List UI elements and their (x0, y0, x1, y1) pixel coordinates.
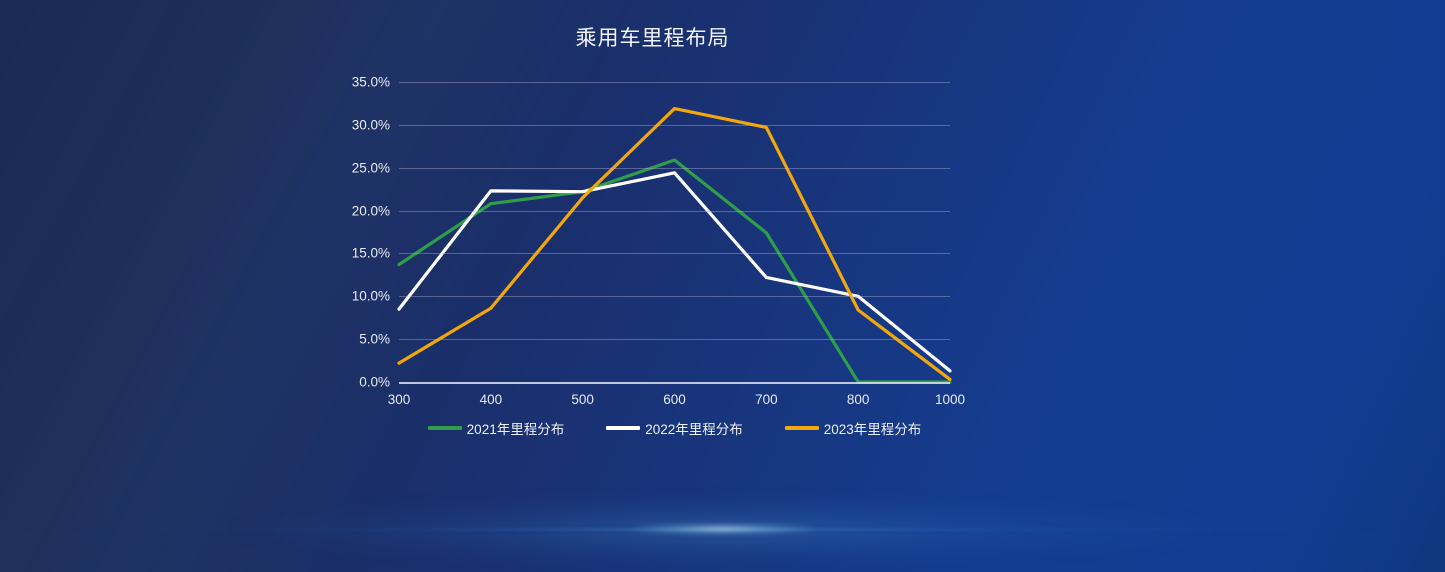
gridline (399, 168, 950, 169)
series-layer (399, 82, 950, 382)
legend-label: 2022年里程分布 (645, 418, 743, 438)
y-axis-tick-label: 35.0% (352, 75, 390, 90)
y-axis-tick-label: 25.0% (352, 160, 390, 175)
gridline (399, 211, 950, 212)
axis-baseline (399, 382, 950, 384)
legend-label: 2023年里程分布 (824, 418, 922, 438)
series-line (399, 160, 950, 382)
legend-item[interactable]: 2023年里程分布 (785, 418, 922, 438)
x-axis-tick-label: 800 (847, 392, 870, 407)
y-axis-tick-label: 30.0% (352, 117, 390, 132)
x-axis-tick-label: 1000 (935, 392, 965, 407)
line-chart: 乘用车里程布局 0.0%5.0%10.0%15.0%20.0%25.0%30.0… (340, 22, 965, 447)
slide-canvas: 乘用车里程布局 0.0%5.0%10.0%15.0%20.0%25.0%30.0… (0, 0, 1445, 572)
legend-label: 2021年里程分布 (467, 418, 565, 438)
legend-item[interactable]: 2022年里程分布 (606, 418, 743, 438)
x-axis-tick-label: 600 (663, 392, 686, 407)
horizon-glow-core (633, 525, 813, 533)
plot-area: 0.0%5.0%10.0%15.0%20.0%25.0%30.0%35.0%30… (399, 82, 950, 382)
x-axis-tick-label: 300 (388, 392, 411, 407)
y-axis-tick-label: 20.0% (352, 203, 390, 218)
gridline (399, 82, 950, 83)
y-axis-tick-label: 0.0% (359, 375, 390, 390)
legend-color-swatch (606, 426, 640, 430)
y-axis-tick-label: 15.0% (352, 246, 390, 261)
y-axis-tick-label: 10.0% (352, 289, 390, 304)
chart-legend: 2021年里程分布2022年里程分布2023年里程分布 (399, 418, 950, 438)
chart-title: 乘用车里程布局 (340, 22, 965, 52)
x-axis-tick-label: 500 (571, 392, 594, 407)
legend-item[interactable]: 2021年里程分布 (428, 418, 565, 438)
gridline (399, 125, 950, 126)
gridline (399, 296, 950, 297)
y-axis-tick-label: 5.0% (359, 332, 390, 347)
legend-color-swatch (785, 426, 819, 430)
x-axis-tick-label: 700 (755, 392, 778, 407)
x-axis-tick-label: 400 (480, 392, 503, 407)
series-line (399, 173, 950, 371)
legend-color-swatch (428, 426, 462, 430)
gridline (399, 339, 950, 340)
gridline (399, 253, 950, 254)
